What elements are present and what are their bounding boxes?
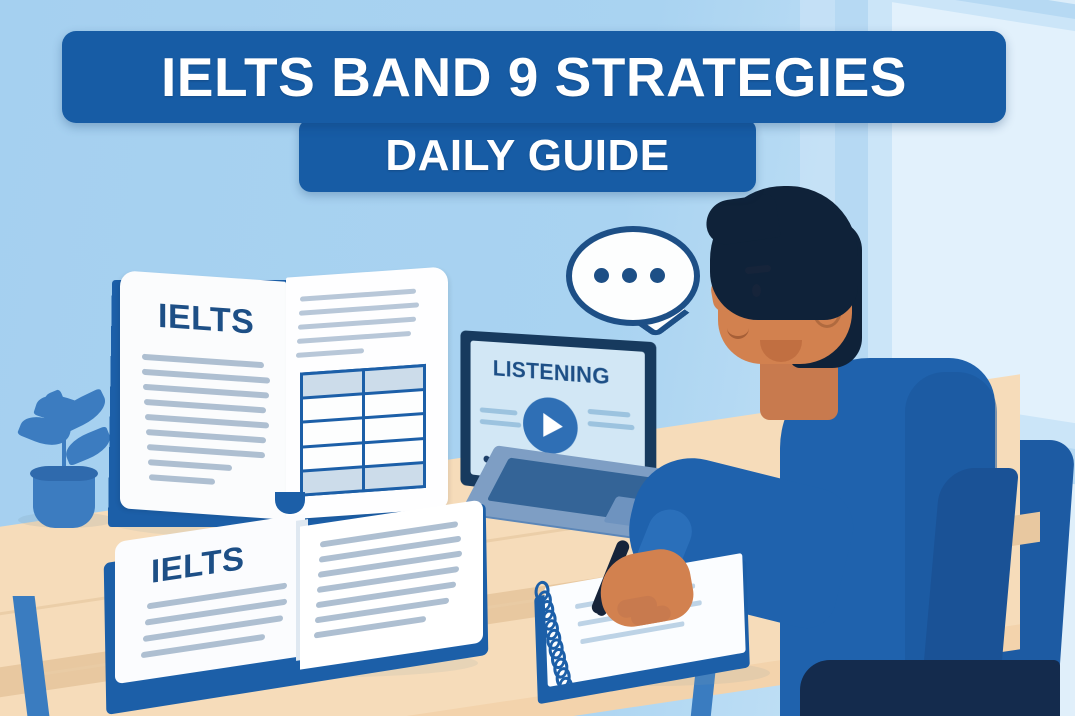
- flat-book-title: IELTS: [151, 539, 245, 590]
- speech-bubble: [566, 226, 700, 326]
- text-line: [142, 354, 264, 369]
- speech-dot: [594, 268, 609, 283]
- standing-book-left-page: IELTS: [120, 270, 286, 520]
- text-line: [148, 459, 232, 471]
- flat-book-left-page: IELTS: [115, 514, 305, 684]
- screen-text-line: [480, 407, 518, 415]
- text-line: [147, 444, 265, 458]
- screen-text-line: [588, 421, 635, 430]
- table-cell: [365, 391, 424, 416]
- table-cell: [365, 415, 424, 440]
- person-legs: [800, 660, 1060, 716]
- text-line: [299, 302, 419, 315]
- text-line: [144, 399, 266, 414]
- text-line: [146, 429, 266, 443]
- table-cell: [365, 440, 424, 465]
- subtitle-banner: DAILY GUIDE: [299, 120, 756, 192]
- table-cell: [365, 464, 424, 489]
- text-line: [142, 369, 270, 384]
- text-line: [143, 384, 269, 399]
- table-cell: [303, 371, 362, 396]
- title-text: IELTS BAND 9 STRATEGIES: [161, 45, 907, 109]
- subtitle-text: DAILY GUIDE: [385, 131, 669, 181]
- person-eye: [752, 284, 761, 297]
- play-icon[interactable]: [523, 395, 578, 456]
- table-cell: [303, 444, 362, 469]
- table-cell: [303, 420, 362, 445]
- screen-text-line: [588, 409, 631, 418]
- table-cell: [365, 367, 424, 392]
- table-cell: [303, 468, 362, 493]
- text-line: [298, 317, 416, 330]
- text-line: [296, 348, 364, 358]
- text-line: [149, 474, 215, 485]
- illustration-canvas: IELTS LISTENING: [0, 0, 1075, 716]
- flat-book-right-page: [300, 499, 483, 669]
- standing-book-table: [300, 364, 426, 497]
- speech-dot: [622, 268, 637, 283]
- table-cell: [303, 396, 362, 421]
- speech-dot: [650, 268, 665, 283]
- play-triangle: [543, 413, 563, 439]
- text-line: [297, 331, 411, 344]
- text-line: [300, 289, 416, 302]
- text-line: [145, 414, 269, 429]
- standing-book-title: IELTS: [158, 297, 254, 342]
- laptop-screen-title: LISTENING: [493, 356, 610, 390]
- notebook-spiral: [532, 576, 562, 688]
- plant-pot-rim: [30, 466, 98, 481]
- screen-text-line: [480, 419, 521, 428]
- standing-book-right-page: [286, 266, 448, 519]
- title-banner: IELTS BAND 9 STRATEGIES: [62, 31, 1006, 123]
